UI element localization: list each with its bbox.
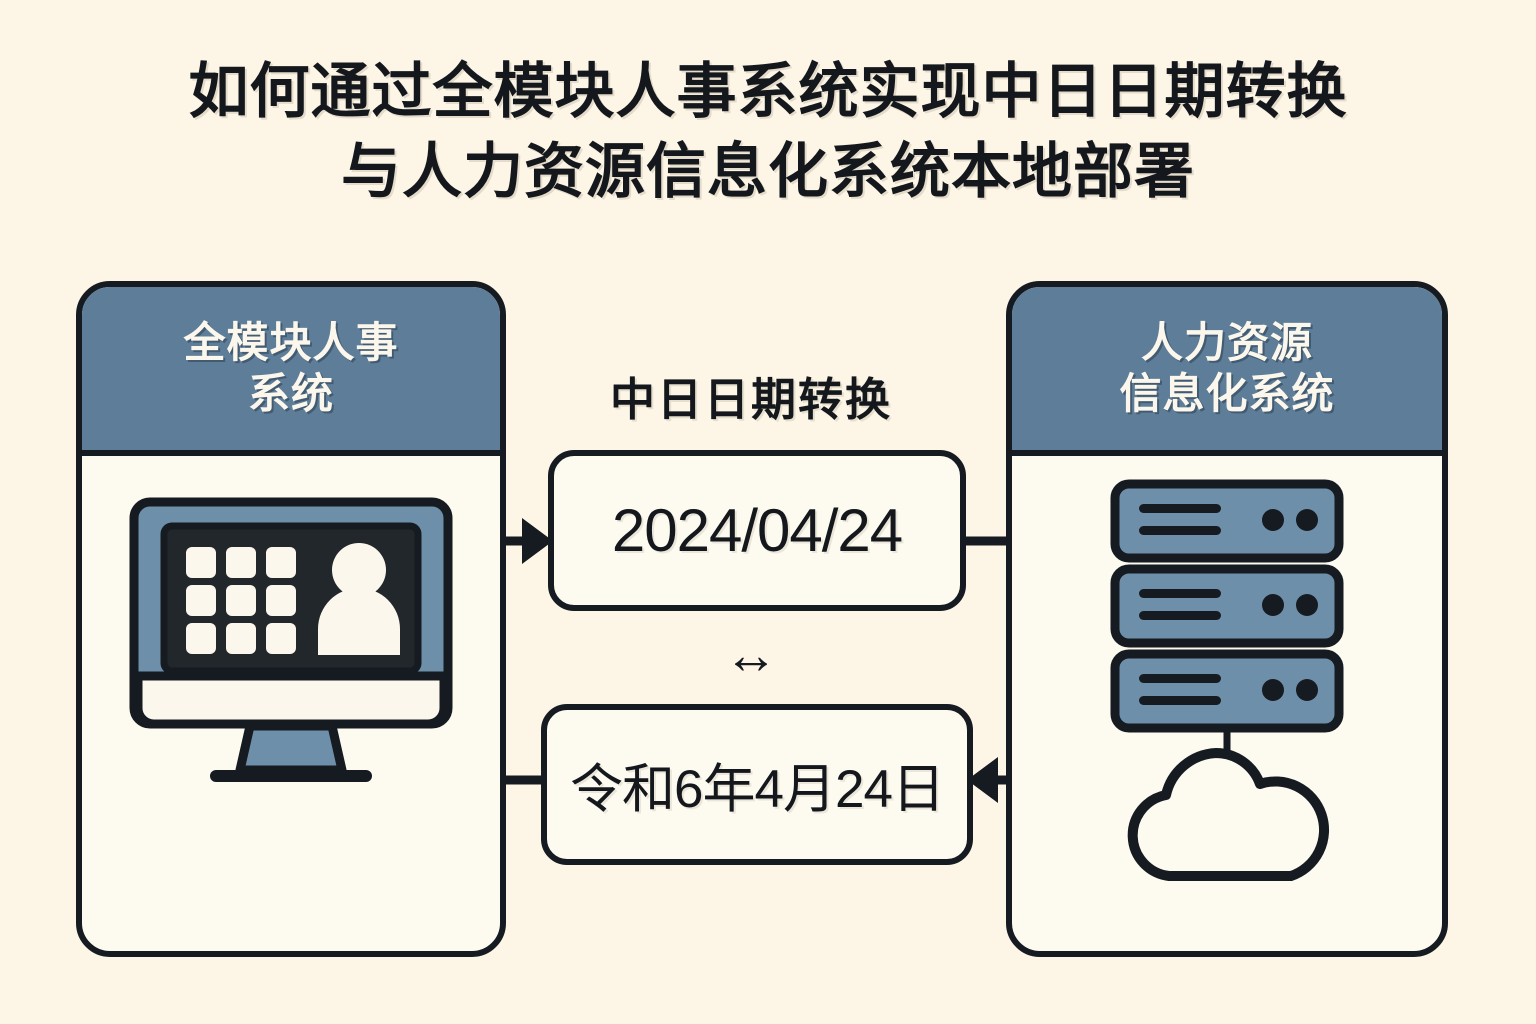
right-card-body: 本地部署 xyxy=(1012,450,1442,951)
left-system-card: 全模块人事 系统 xyxy=(76,281,506,957)
right-card-header: 人力资源 信息化系统 xyxy=(1012,287,1442,456)
bidirectional-swap-icon: ↔ xyxy=(536,628,966,682)
right-system-card: 人力资源 信息化系统 xyxy=(1006,281,1448,957)
server-unit xyxy=(1115,654,1339,728)
conversion-label: 中日日期转换 xyxy=(536,363,966,428)
left-card-header-line-1: 全模块人事 xyxy=(183,318,398,368)
gregorian-date-box: 2024/04/24 xyxy=(548,450,966,611)
diagram-canvas: 如何通过全模块人事系统实现中日日期转换 与人力资源信息化系统本地部署 全模块人事… xyxy=(0,0,1536,1024)
cloud-icon xyxy=(1133,753,1324,876)
left-card-header-line-2: 系统 xyxy=(183,369,398,419)
wareki-date-box: 令和6年4月24日 xyxy=(541,704,973,865)
server-rack-and-cloud-icon xyxy=(1077,474,1377,909)
right-card-header-line-1: 人力资源 xyxy=(1119,318,1334,368)
server-unit xyxy=(1115,569,1339,643)
connector-right-to-wareki-arrow-icon xyxy=(967,757,1010,803)
right-card-header-line-2: 信息化系统 xyxy=(1119,369,1334,419)
page-title: 如何通过全模块人事系统实现中日日期转换 与人力资源信息化系统本地部署 xyxy=(0,52,1536,212)
wareki-date-value: 令和6年4月24日 xyxy=(570,747,944,823)
left-card-body xyxy=(82,450,500,951)
server-unit xyxy=(1115,484,1339,558)
left-card-header: 全模块人事 系统 xyxy=(82,287,500,456)
page-title-line-1: 如何通过全模块人事系统实现中日日期转换 xyxy=(0,52,1536,132)
desktop-monitor-hr-icon xyxy=(126,494,456,799)
connector-left-to-gregorian-arrow-icon xyxy=(500,518,553,564)
gregorian-date-value: 2024/04/24 xyxy=(612,496,902,565)
page-title-line-2: 与人力资源信息化系统本地部署 xyxy=(0,132,1536,212)
